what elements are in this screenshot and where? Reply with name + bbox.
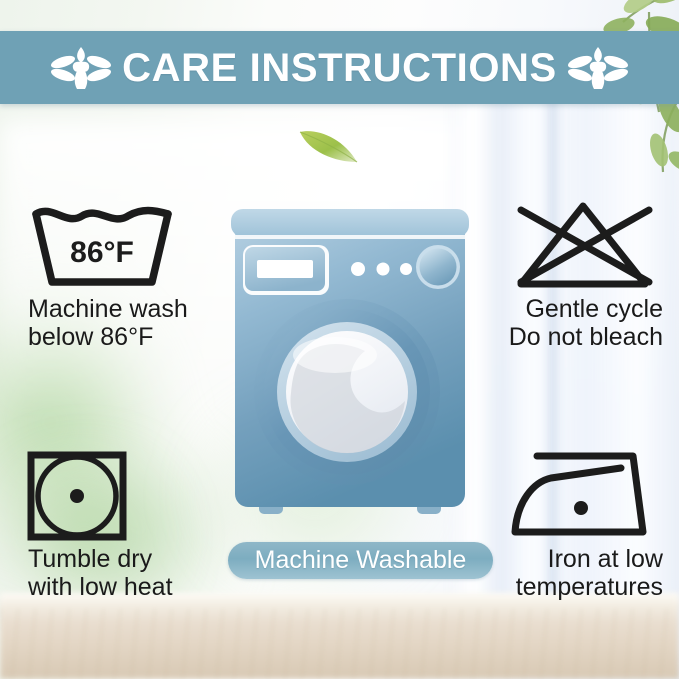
care-label-line2: temperatures bbox=[503, 574, 663, 602]
washing-machine-illustration bbox=[225, 205, 475, 535]
care-label-line2: below 86°F bbox=[22, 324, 188, 352]
care-symbol-do-not-bleach: Gentle cycle Do not bleach bbox=[503, 196, 663, 351]
wash-tub-icon: 86°F bbox=[22, 196, 182, 296]
indicator-dot bbox=[351, 262, 365, 276]
background-wood-grain bbox=[0, 609, 679, 679]
fleur-de-lis-icon bbox=[50, 44, 112, 92]
iron-icon bbox=[503, 446, 663, 546]
page-title: CARE INSTRUCTIONS bbox=[112, 48, 567, 88]
wash-temperature-value: 86°F bbox=[70, 236, 134, 269]
care-symbol-machine-wash: 86°F Machine wash below 86°F bbox=[22, 196, 188, 351]
care-label-line1: Tumble dry bbox=[22, 546, 173, 574]
machine-washable-badge: Machine Washable bbox=[228, 542, 493, 579]
care-instructions-graphic: CARE INSTRUCTIONS bbox=[0, 0, 679, 679]
care-label-line1: Gentle cycle bbox=[503, 296, 663, 324]
fleur-de-lis-icon bbox=[567, 44, 629, 92]
header-banner: CARE INSTRUCTIONS bbox=[0, 31, 679, 104]
triangle-crossed-out-icon bbox=[503, 196, 663, 296]
care-label-line1: Iron at low bbox=[503, 546, 663, 574]
leaf-icon bbox=[295, 118, 365, 170]
tumble-dry-square-icon bbox=[22, 446, 132, 546]
care-symbol-tumble-dry: Tumble dry with low heat bbox=[22, 446, 173, 601]
drawer-slot bbox=[257, 260, 313, 278]
machine-top-panel bbox=[231, 209, 469, 237]
indicator-dot bbox=[400, 263, 412, 275]
badge-label: Machine Washable bbox=[255, 548, 467, 573]
care-label-line2: with low heat bbox=[22, 574, 173, 602]
care-label-line2: Do not bleach bbox=[503, 324, 663, 352]
power-knob bbox=[420, 249, 457, 286]
indicator-dot bbox=[377, 263, 390, 276]
care-symbol-iron: Iron at low temperatures bbox=[503, 446, 663, 601]
care-label-line1: Machine wash bbox=[22, 296, 188, 324]
